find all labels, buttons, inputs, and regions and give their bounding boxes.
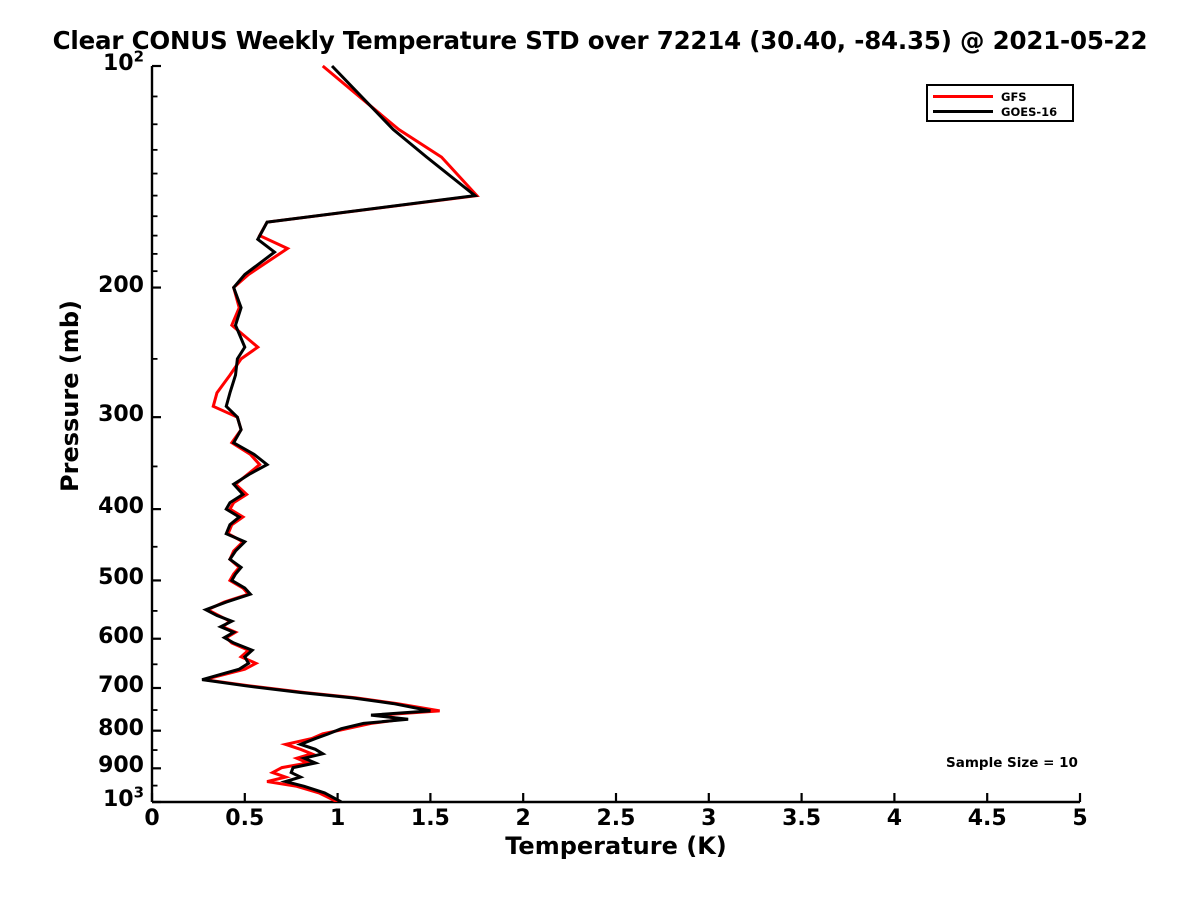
legend-label-goes16: GOES-16 bbox=[1001, 105, 1057, 119]
x-tick-label: 2.5 bbox=[576, 806, 656, 831]
x-tick-label: 1 bbox=[298, 806, 378, 831]
y-tick-label: 700 bbox=[54, 675, 144, 697]
legend-item-goes16: GOES-16 bbox=[933, 104, 1067, 119]
series-line-goes-16 bbox=[202, 66, 475, 802]
legend-swatch-gfs bbox=[933, 95, 993, 98]
x-tick-label: 4 bbox=[854, 806, 934, 831]
legend: GFS GOES-16 bbox=[926, 84, 1074, 122]
x-tick-label: 0 bbox=[112, 806, 192, 831]
x-tick-label: 3.5 bbox=[762, 806, 842, 831]
x-tick-label: 3 bbox=[669, 806, 749, 831]
y-axis-label: Pressure (mb) bbox=[56, 266, 84, 526]
x-tick-label: 5 bbox=[1040, 806, 1120, 831]
series-line-gfs bbox=[204, 66, 477, 802]
y-tick-label: 300 bbox=[54, 404, 144, 426]
x-tick-label: 0.5 bbox=[205, 806, 285, 831]
y-tick-label: 500 bbox=[54, 567, 144, 589]
x-tick-label: 2 bbox=[483, 806, 563, 831]
x-tick-label: 4.5 bbox=[947, 806, 1027, 831]
legend-label-gfs: GFS bbox=[1001, 90, 1027, 104]
chart-figure: Clear CONUS Weekly Temperature STD over … bbox=[0, 0, 1200, 900]
x-tick-label: 1.5 bbox=[390, 806, 470, 831]
y-tick-label: 400 bbox=[54, 496, 144, 518]
y-tick-label: 800 bbox=[54, 718, 144, 740]
legend-swatch-goes16 bbox=[933, 110, 993, 113]
y-tick-label: 900 bbox=[54, 755, 144, 777]
legend-item-gfs: GFS bbox=[933, 89, 1067, 104]
y-tick-label: 102 bbox=[54, 53, 144, 75]
sample-size-annotation: Sample Size = 10 bbox=[946, 755, 1078, 771]
x-axis-label: Temperature (K) bbox=[152, 832, 1080, 860]
y-tick-label: 200 bbox=[54, 275, 144, 297]
y-tick-label: 600 bbox=[54, 626, 144, 648]
